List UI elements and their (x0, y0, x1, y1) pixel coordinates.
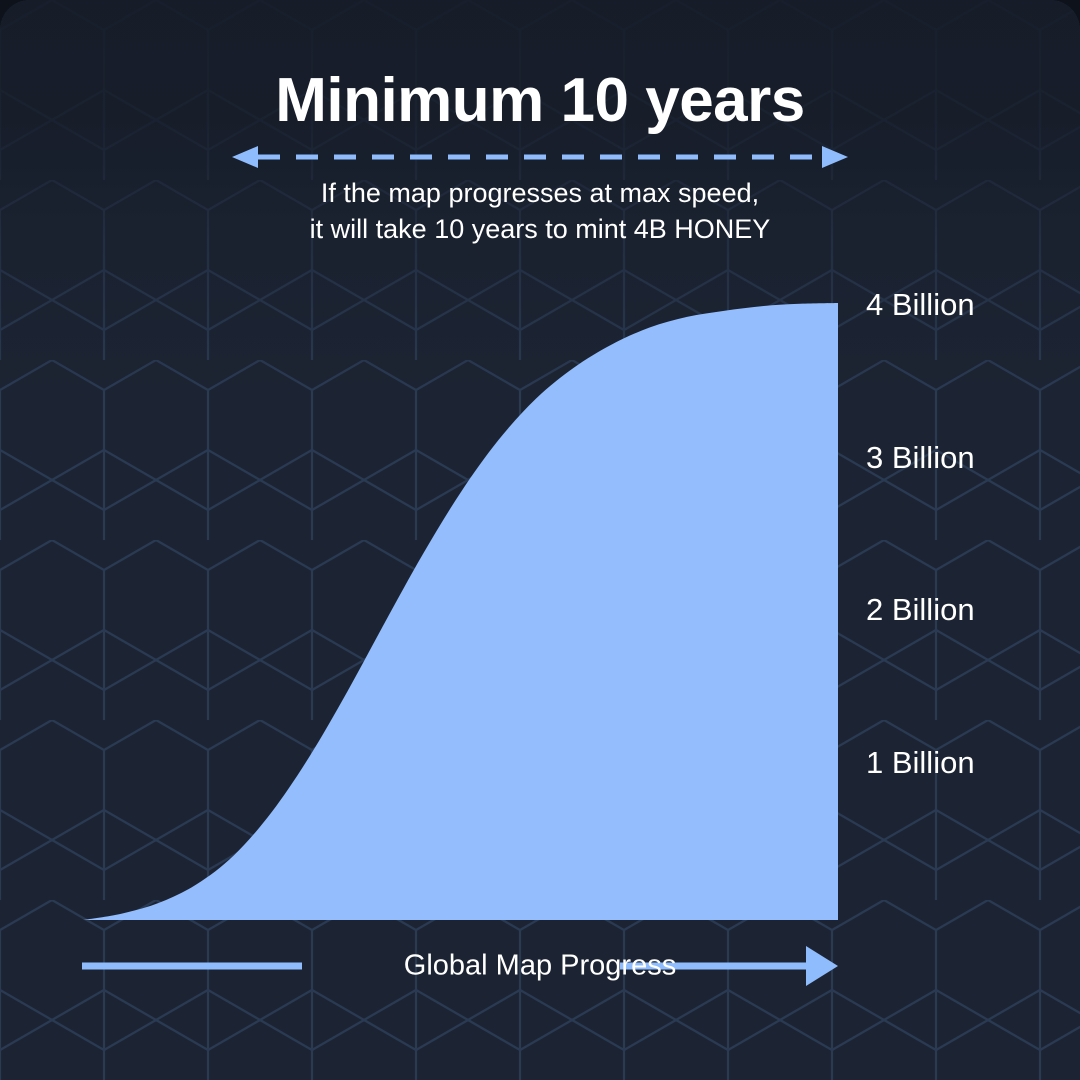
y-axis-tick-1-billion: 1 Billion (866, 745, 975, 781)
y-axis-tick-3-billion: 3 Billion (866, 440, 975, 476)
y-axis-tick-2-billion: 2 Billion (866, 592, 975, 628)
y-axis-tick-4-billion: 4 Billion (866, 287, 975, 323)
infographic-canvas: Minimum 10 years If the map progresses a… (0, 0, 1080, 1080)
area-series-path (83, 303, 838, 920)
content-layer: Minimum 10 years If the map progresses a… (0, 0, 1080, 1080)
x-axis-arrow-icon (70, 940, 860, 994)
area-chart (0, 0, 1080, 1080)
